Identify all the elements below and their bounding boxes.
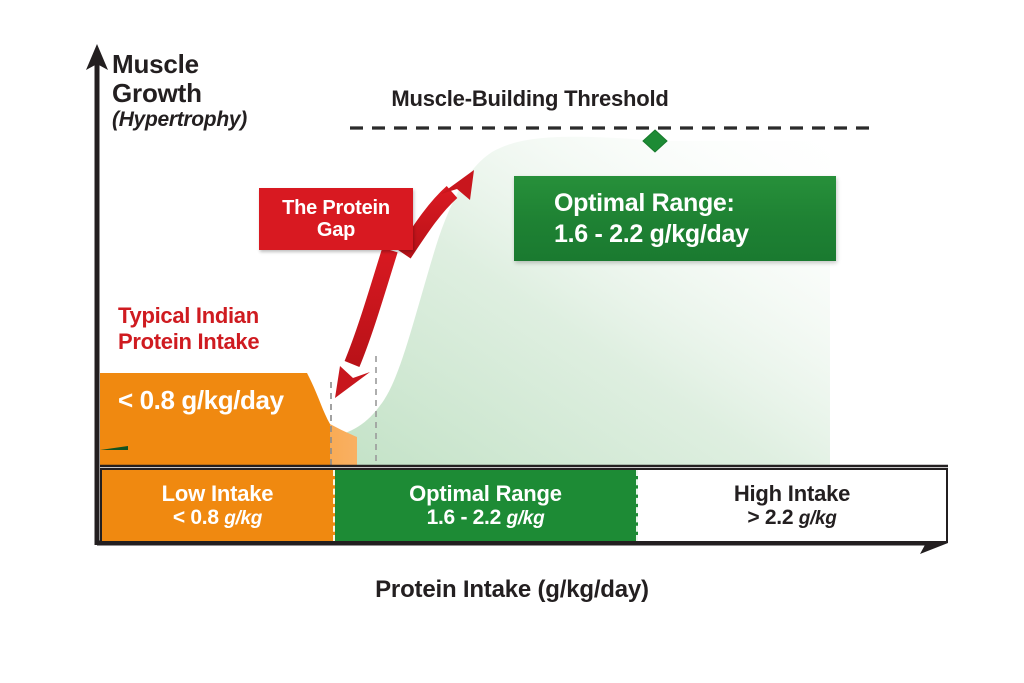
infographic-canvas: Muscle Growth (Hypertrophy) Muscle-Build… xyxy=(0,0,1024,683)
typical-intake-label: Typical Indian Protein Intake xyxy=(118,303,358,356)
band-optimal-range-title: Optimal Range xyxy=(409,481,562,507)
y-axis-title-sub: (Hypertrophy) xyxy=(112,108,362,132)
y-axis-title-line1: Muscle xyxy=(112,49,199,79)
typical-intake-label-line1: Typical Indian xyxy=(118,303,259,328)
band-low-intake-value: < 0.8 g/kg xyxy=(173,506,262,530)
optimal-range-callout: Optimal Range: 1.6 - 2.2 g/kg/day xyxy=(514,176,836,261)
band-high-intake-title: High Intake xyxy=(734,481,850,507)
band-low-intake[interactable]: Low Intake < 0.8 g/kg xyxy=(102,470,335,541)
optimal-range-callout-title: Optimal Range: xyxy=(554,188,735,219)
muscle-building-threshold-label: Muscle-Building Threshold xyxy=(360,86,700,112)
band-optimal-range-value: 1.6 - 2.2 g/kg xyxy=(427,506,545,530)
typical-intake-value: < 0.8 g/kg/day xyxy=(118,385,284,416)
protein-gap-callout: The Protein Gap xyxy=(259,188,413,250)
x-axis-title: Protein Intake (g/kg/day) xyxy=(262,576,762,604)
protein-gap-callout-text: The Protein Gap xyxy=(265,197,407,242)
y-axis-title: Muscle Growth (Hypertrophy) xyxy=(112,50,362,132)
band-optimal-range[interactable]: Optimal Range 1.6 - 2.2 g/kg xyxy=(335,470,638,541)
typical-intake-label-line2: Protein Intake xyxy=(118,329,259,354)
optimal-range-callout-value: 1.6 - 2.2 g/kg/day xyxy=(554,219,749,250)
band-high-intake-value: > 2.2 g/kg xyxy=(747,506,836,530)
band-high-intake[interactable]: High Intake > 2.2 g/kg xyxy=(638,470,946,541)
category-band-row: Low Intake < 0.8 g/kg Optimal Range 1.6 … xyxy=(100,468,948,543)
y-axis-title-line2: Growth xyxy=(112,78,202,108)
band-low-intake-title: Low Intake xyxy=(162,481,274,507)
